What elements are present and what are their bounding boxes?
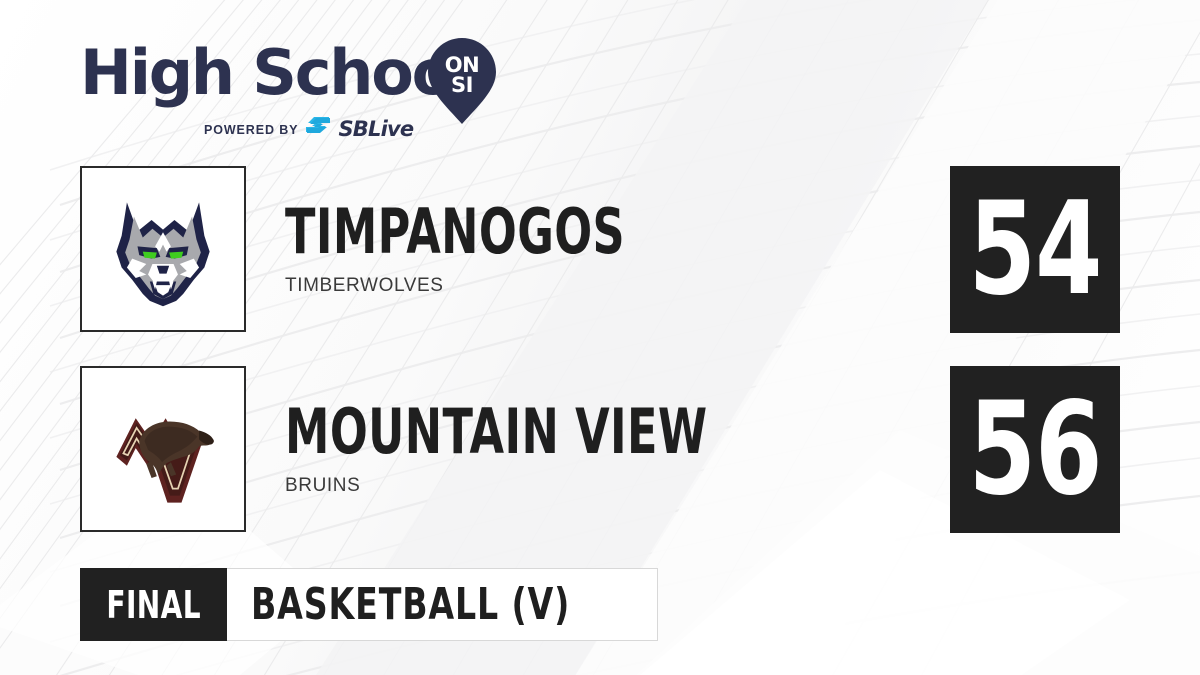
- bruins-mv-bear-logo: [97, 383, 229, 515]
- sblive-s-icon: [305, 116, 331, 143]
- partner-wordmark: SBLive: [338, 119, 413, 140]
- team-mascot: BRUINS: [285, 475, 813, 497]
- team-name: TIMPANOGOS: [285, 201, 625, 263]
- status-badge: FINAL: [80, 568, 227, 641]
- team-text-block: TIMPANOGOS TIMBERWOLVES: [285, 166, 710, 332]
- team-logo-box: [80, 166, 246, 332]
- scoreboard-graphic: High School ON SI POWERED BY SBLive: [0, 0, 1200, 675]
- powered-by-label: POWERED BY: [204, 123, 298, 137]
- brand-wordmark: High School: [80, 36, 471, 110]
- timberwolves-wolf-head-logo: [97, 183, 229, 315]
- powered-by-row: POWERED BY SBLive: [204, 116, 413, 143]
- team-score: 54: [969, 186, 1102, 314]
- team-score: 56: [969, 386, 1102, 514]
- team-mascot: TIMBERWOLVES: [285, 275, 710, 297]
- sport-label-box: BASKETBALL (V): [227, 568, 658, 641]
- partner-wordmark-bold: SBL: [338, 117, 380, 141]
- game-status-bar: FINAL BASKETBALL (V): [80, 568, 658, 641]
- partner-wordmark-light: ive: [381, 117, 414, 141]
- team-logo-box: [80, 366, 246, 532]
- team-text-block: MOUNTAIN VIEW BRUINS: [285, 366, 813, 532]
- team-name: MOUNTAIN VIEW: [285, 401, 708, 463]
- team-score-box: 54: [950, 166, 1120, 333]
- status-badge-label: FINAL: [106, 586, 201, 624]
- team-score-box: 56: [950, 366, 1120, 533]
- brand-logo-lockup: High School ON SI POWERED BY SBLive: [80, 36, 510, 136]
- location-pin-icon: ON SI: [428, 38, 496, 124]
- sport-label: BASKETBALL (V): [251, 583, 570, 627]
- pin-label-si: SI: [428, 75, 496, 96]
